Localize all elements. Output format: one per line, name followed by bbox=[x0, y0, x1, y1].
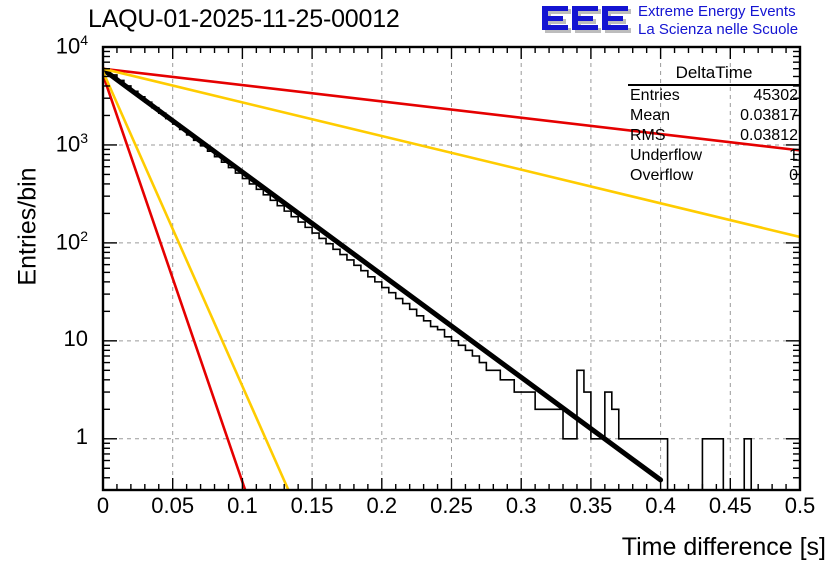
steep-yellow-line bbox=[103, 72, 288, 490]
statistics-row: Entries45302 bbox=[628, 86, 800, 106]
x-tick-label: 0.25 bbox=[417, 493, 487, 519]
x-tick-label: 0 bbox=[68, 493, 138, 519]
x-tick-label: 0.15 bbox=[277, 493, 347, 519]
statistics-row-key: RMS bbox=[630, 126, 666, 146]
y-tick-label: 1 bbox=[26, 424, 88, 450]
steep-red-line bbox=[103, 75, 245, 490]
statistics-row: Underflow1 bbox=[628, 146, 800, 166]
y-tick-label: 104 bbox=[26, 32, 88, 59]
statistics-row-value: 0.03817 bbox=[740, 106, 798, 126]
statistics-row-value: 0.03812 bbox=[740, 126, 798, 146]
y-tick-label: 102 bbox=[26, 228, 88, 255]
statistics-row-value: 0 bbox=[789, 166, 798, 186]
statistics-row-key: Underflow bbox=[630, 146, 702, 166]
statistics-row-key: Mean bbox=[630, 106, 670, 126]
x-tick-label: 0.45 bbox=[695, 493, 765, 519]
y-tick-label: 10 bbox=[26, 326, 88, 352]
statistics-rows: Entries45302Mean0.03817RMS0.03812Underfl… bbox=[628, 86, 800, 186]
statistics-row-value: 45302 bbox=[754, 86, 799, 106]
x-tick-label: 0.5 bbox=[765, 493, 835, 519]
x-tick-label: 0.35 bbox=[556, 493, 626, 519]
statistics-row: Overflow0 bbox=[628, 166, 800, 186]
x-tick-label: 0.4 bbox=[626, 493, 696, 519]
statistics-row: Mean0.03817 bbox=[628, 106, 800, 126]
x-tick-label: 0.1 bbox=[207, 493, 277, 519]
x-tick-label: 0.05 bbox=[138, 493, 208, 519]
x-tick-label: 0.3 bbox=[486, 493, 556, 519]
statistics-row-key: Entries bbox=[630, 86, 680, 106]
x-tick-label: 0.2 bbox=[347, 493, 417, 519]
statistics-row-key: Overflow bbox=[630, 166, 693, 186]
statistics-box: DeltaTime Entries45302Mean0.03817RMS0.03… bbox=[628, 63, 800, 186]
y-tick-label: 103 bbox=[26, 130, 88, 157]
statistics-title: DeltaTime bbox=[628, 63, 800, 86]
plot-canvas: LAQU-01-2025-11-25-00012 bbox=[0, 0, 836, 572]
statistics-row-value: 1 bbox=[789, 146, 798, 166]
statistics-row: RMS0.03812 bbox=[628, 126, 800, 146]
